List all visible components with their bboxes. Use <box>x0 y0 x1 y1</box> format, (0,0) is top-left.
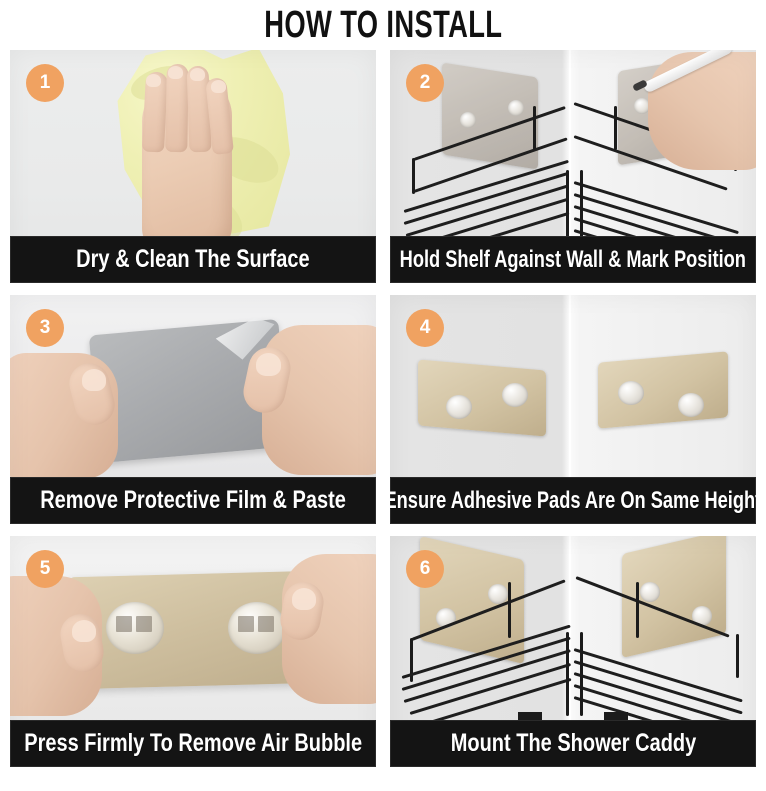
step-badge-5: 5 <box>26 550 64 588</box>
step-caption-bar-2: Hold Shelf Against Wall & Mark Position <box>390 236 756 283</box>
step-badge-1: 1 <box>26 64 64 102</box>
step-caption-bar-4: Ensure Adhesive Pads Are On Same Height <box>390 477 756 524</box>
step-badge-6: 6 <box>406 550 444 588</box>
mount-boss <box>640 582 660 602</box>
step-caption-text-1: Dry & Clean The Surface <box>76 247 309 272</box>
basket-center-rib <box>580 632 583 716</box>
step-panel-6[interactable]: 6 Mount The Shower Caddy <box>390 536 756 767</box>
basket-center-rib <box>566 632 569 716</box>
step-caption-text-2: Hold Shelf Against Wall & Mark Position <box>400 247 746 272</box>
mount-boss-left <box>106 602 164 654</box>
shelf-wire <box>614 106 617 150</box>
clip-glyph <box>258 616 274 632</box>
fingernail <box>72 620 96 642</box>
step-caption-bar-6: Mount The Shower Caddy <box>390 720 756 767</box>
shelf-wire <box>533 106 536 150</box>
mount-boss <box>502 383 528 407</box>
shelf-wire <box>636 582 639 638</box>
step-caption-bar-3: Remove Protective Film & Paste <box>10 477 376 524</box>
fingernail <box>256 353 281 376</box>
shelf-wire <box>412 158 415 194</box>
mount-boss <box>508 100 524 116</box>
step-panel-4[interactable]: 4 Ensure Adhesive Pads Are On Same Heigh… <box>390 295 756 524</box>
step-panel-3[interactable]: 3 Remove Protective Film & Paste <box>10 295 376 524</box>
step-panel-1[interactable]: 1 Dry & Clean The Surface <box>10 50 376 283</box>
basket-center-rib <box>580 170 583 244</box>
clip-glyph <box>238 616 254 632</box>
clip-glyph <box>116 616 132 632</box>
fingernail <box>211 80 226 93</box>
page-header: HOW TO INSTALL <box>0 0 766 50</box>
step-caption-text-4: Ensure Adhesive Pads Are On Same Height <box>390 488 756 513</box>
shelf-wire <box>736 634 739 678</box>
steps-grid: 1 Dry & Clean The Surface <box>10 50 756 767</box>
fingernail <box>168 66 183 79</box>
step-badge-4: 4 <box>406 309 444 347</box>
step-panel-2[interactable]: 2 Hold Shelf Against Wall & Mark Positio… <box>390 50 756 283</box>
fingernail <box>292 588 316 610</box>
page-title: HOW TO INSTALL <box>264 6 502 44</box>
step-caption-text-6: Mount The Shower Caddy <box>450 731 696 756</box>
shelf-wire <box>508 582 511 638</box>
clip-glyph <box>136 616 152 632</box>
mount-boss <box>446 395 472 419</box>
mount-boss <box>678 393 704 417</box>
hand-icon <box>648 52 756 170</box>
step-panel-5[interactable]: 5 Press Firmly To Remove Air Bubble <box>10 536 376 767</box>
basket-center-rib <box>566 170 569 244</box>
step-badge-2: 2 <box>406 64 444 102</box>
mount-boss <box>460 112 476 128</box>
step-caption-text-5: Press Firmly To Remove Air Bubble <box>24 731 362 756</box>
fingernail <box>190 68 205 81</box>
step-badge-3: 3 <box>26 309 64 347</box>
step-caption-text-3: Remove Protective Film & Paste <box>40 488 346 513</box>
step-caption-bar-1: Dry & Clean The Surface <box>10 236 376 283</box>
mount-boss <box>618 381 644 405</box>
mount-boss-right <box>228 602 286 654</box>
fingernail <box>82 369 106 391</box>
step-caption-bar-5: Press Firmly To Remove Air Bubble <box>10 720 376 767</box>
fingernail <box>146 74 161 87</box>
